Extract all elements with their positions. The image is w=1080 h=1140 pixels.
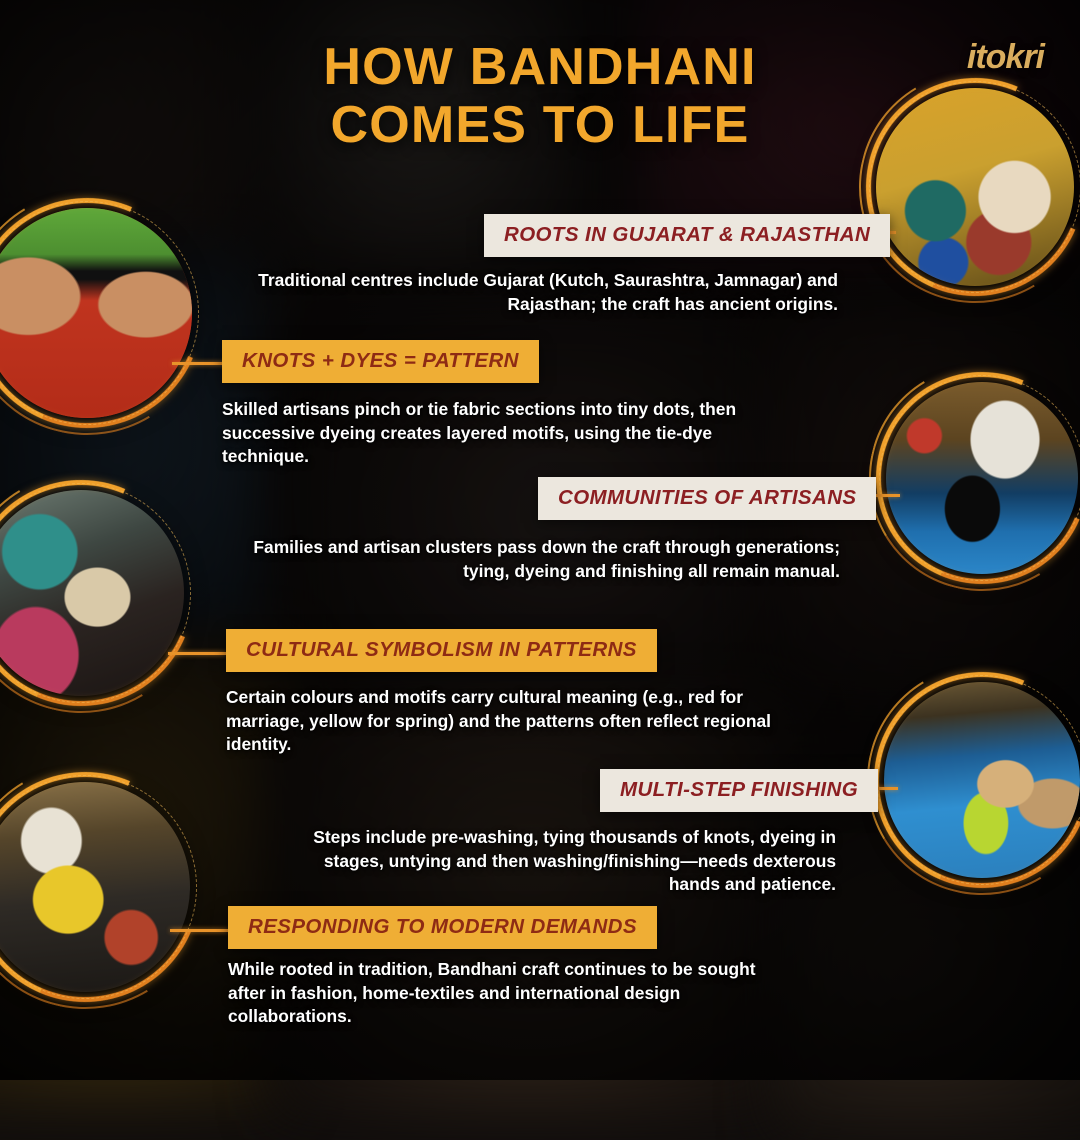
section-body-communities: Families and artisan clusters pass down … — [248, 536, 840, 583]
photo-woman-with-fabric — [0, 480, 194, 706]
photo-women-tying-knots — [866, 78, 1080, 296]
connector-line-symbolism — [168, 652, 226, 655]
photo-hands-tying-red — [0, 198, 202, 428]
section-body-modern: While rooted in tradition, Bandhani craf… — [228, 958, 788, 1029]
section-heading-roots: ROOTS IN GUJARAT & RAJASTHAN — [484, 214, 890, 257]
section-body-finishing: Steps include pre-washing, tying thousan… — [300, 826, 836, 897]
connector-line-knots — [172, 362, 228, 365]
section-heading-communities: COMMUNITIES OF ARTISANS — [538, 477, 876, 520]
photo-dyer-yellow-fabric — [0, 772, 200, 1002]
photo-artisan-dyeing-vat — [876, 372, 1080, 584]
photo-indigo-dye-bath — [874, 672, 1080, 888]
section-heading-finishing: MULTI-STEP FINISHING — [600, 769, 878, 812]
section-heading-knots: KNOTS + DYES = PATTERN — [222, 340, 539, 383]
section-heading-symbolism: CULTURAL SYMBOLISM IN PATTERNS — [226, 629, 657, 672]
section-body-roots: Traditional centres include Gujarat (Kut… — [250, 269, 838, 316]
connector-line-modern — [170, 929, 228, 932]
section-body-knots: Skilled artisans pinch or tie fabric sec… — [222, 398, 762, 469]
section-heading-modern: RESPONDING TO MODERN DEMANDS — [228, 906, 657, 949]
section-body-symbolism: Certain colours and motifs carry cultura… — [226, 686, 774, 757]
